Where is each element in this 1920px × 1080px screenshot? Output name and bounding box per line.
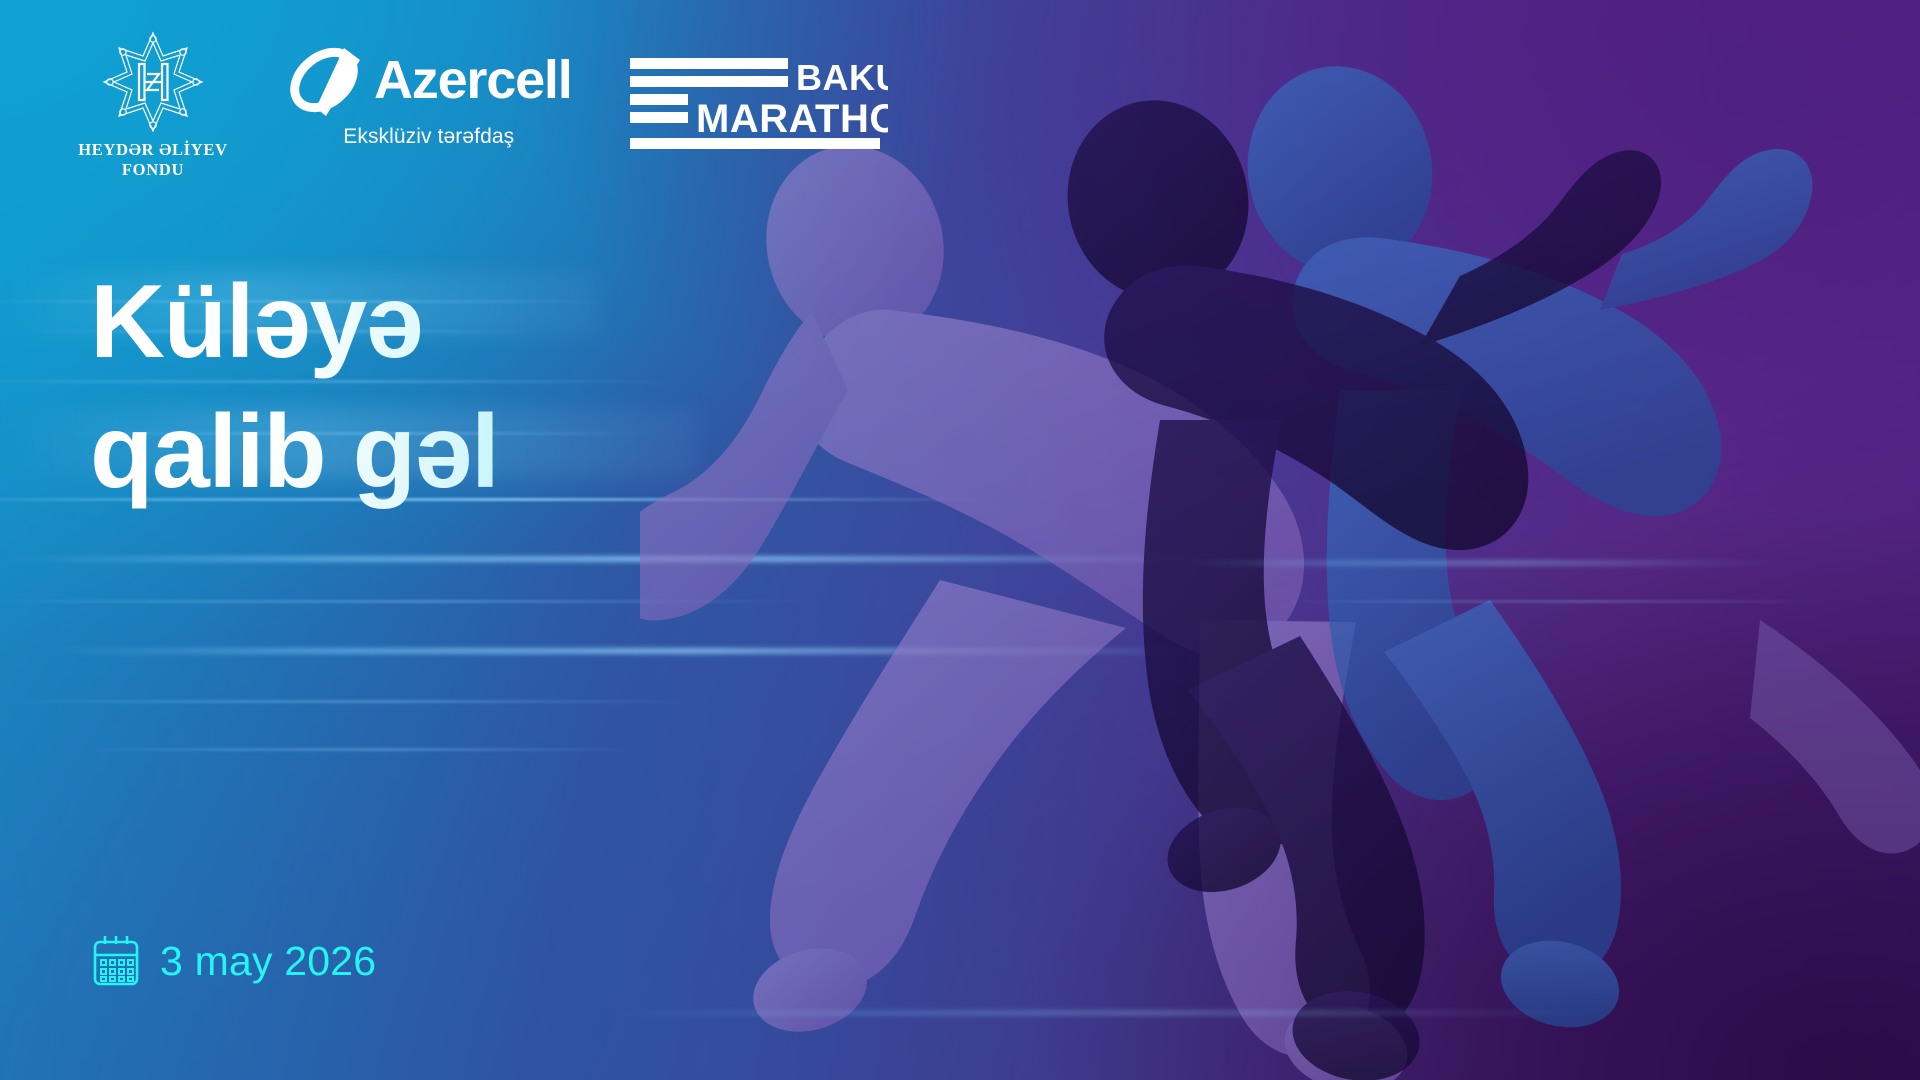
foundation-name: HEYDƏR ƏLİYEV FONDU	[78, 140, 227, 180]
streak-line	[1180, 560, 1780, 566]
calendar-icon	[92, 934, 142, 988]
baku-marathon-logo[interactable]: BAKU MARATHON	[630, 24, 888, 158]
headline-line-2: qalib gəl	[90, 392, 890, 514]
baku-marathon-bars-icon: BAKU MARATHON	[630, 50, 888, 158]
event-date-text: 3 may 2026	[160, 941, 376, 982]
event-date-row: 3 may 2026	[92, 934, 376, 988]
azercell-wordmark: Azercell	[374, 53, 572, 107]
azercell-alpha-mark-icon	[286, 42, 370, 118]
heydar-aliyev-foundation-logo[interactable]: HEYDƏR ƏLİYEV FONDU	[78, 24, 228, 180]
azercell-logo[interactable]: Azercell Eksklüziv tərəfdaş	[286, 24, 572, 149]
streak-line	[1280, 600, 1840, 603]
streak-line	[600, 1010, 1600, 1016]
eight-point-star-emblem-icon	[101, 30, 205, 134]
azercell-tagline: Eksklüziv tərəfdaş	[343, 125, 514, 149]
headline-line-1: Küləyə	[90, 262, 890, 384]
sponsor-logo-bar: HEYDƏR ƏLİYEV FONDU Azercell Eksklüziv t…	[78, 24, 888, 180]
headline-block: Küləyə qalib gəl	[90, 262, 890, 513]
marathon-promo-banner: HEYDƏR ƏLİYEV FONDU Azercell Eksklüziv t…	[0, 0, 1920, 1080]
svg-text:MARATHON: MARATHON	[696, 97, 888, 141]
svg-text:BAKU: BAKU	[796, 57, 888, 98]
